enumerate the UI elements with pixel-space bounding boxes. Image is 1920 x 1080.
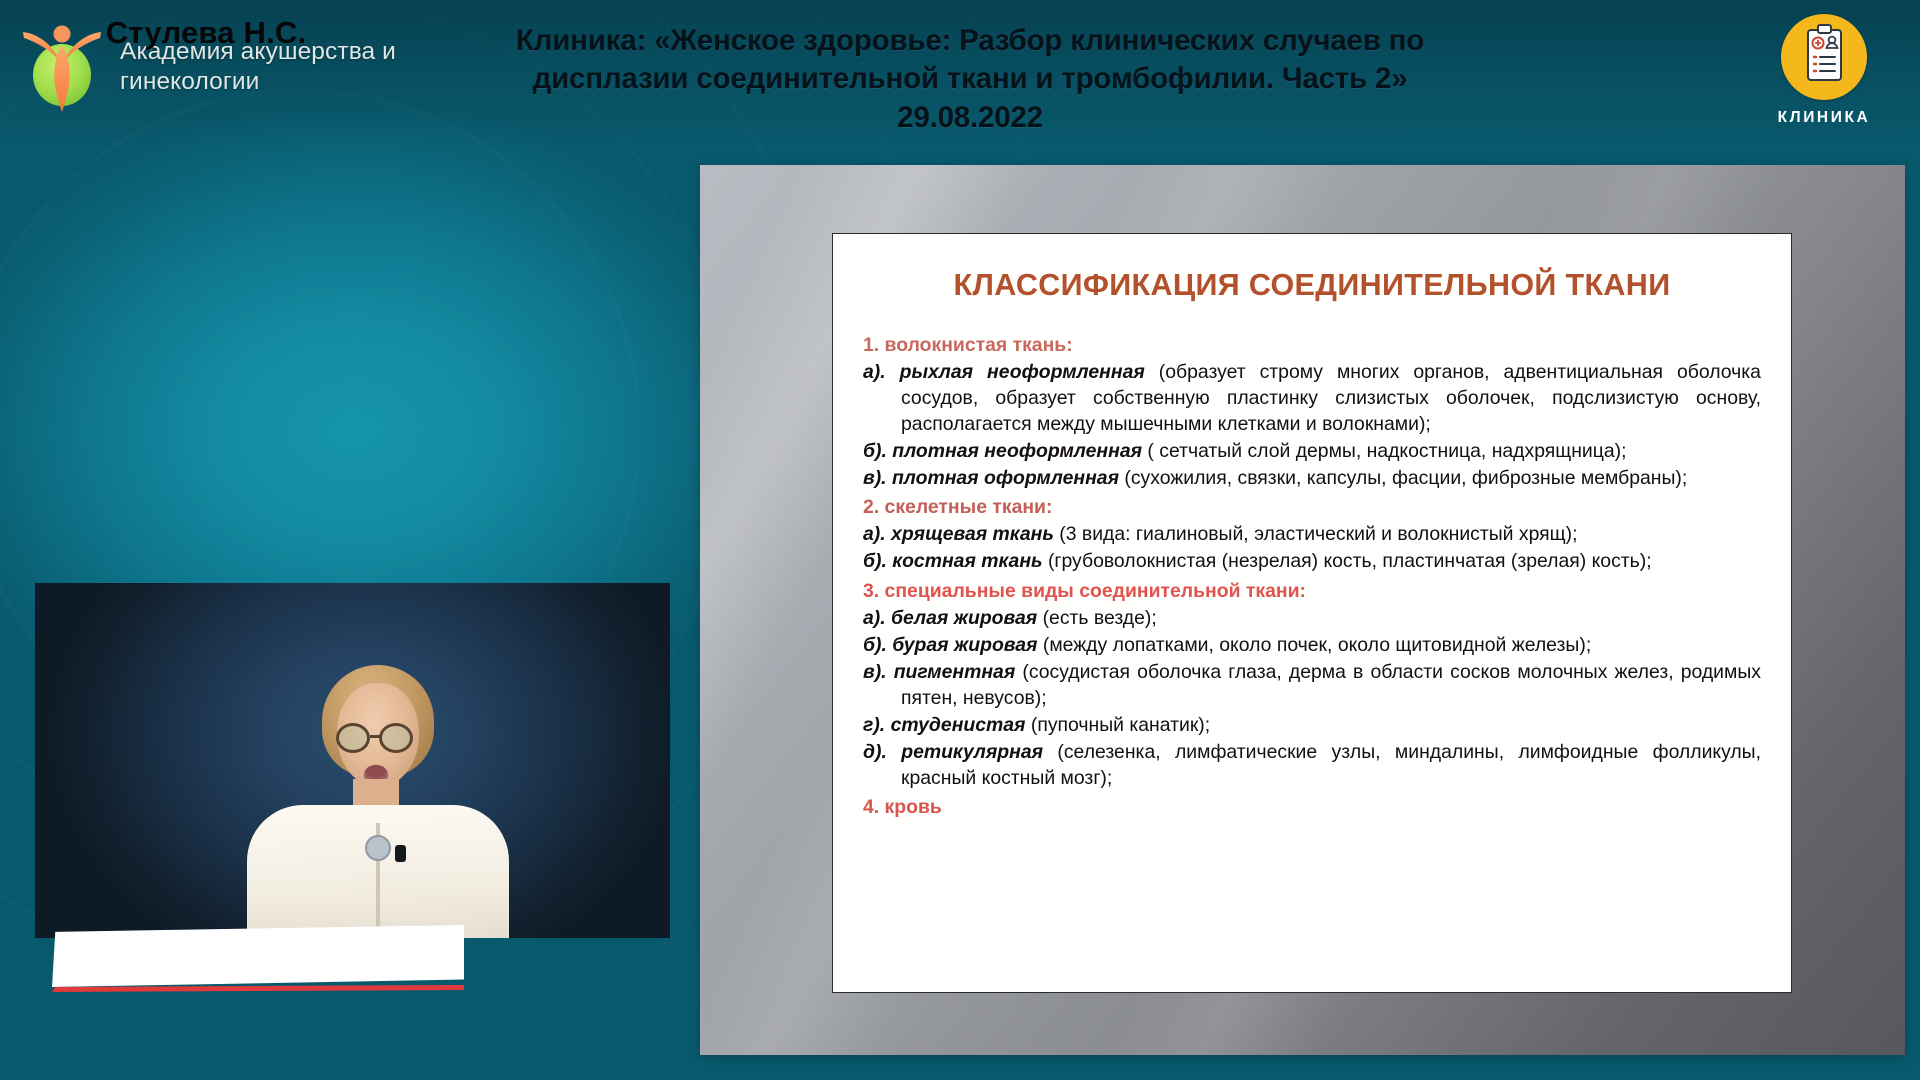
slide-item-detail: (сосудистая оболочка глаза, дерма в обла… bbox=[901, 661, 1761, 709]
slide-section-heading: 2. скелетные ткани: bbox=[863, 495, 1761, 521]
slide-frame: КЛАССИФИКАЦИЯ СОЕДИНИТЕЛЬНОЙ ТКАНИ 1. во… bbox=[700, 165, 1905, 1055]
slide-list-item: б). бурая жировая (между лопатками, окол… bbox=[863, 633, 1761, 659]
slide-list-item: д). ретикулярная (селезенка, лимфатическ… bbox=[863, 740, 1761, 792]
slide-list-item: в). плотная оформленная (сухожилия, связ… bbox=[863, 466, 1761, 492]
slide-item-detail: (сухожилия, связки, капсулы, фасции, фиб… bbox=[1124, 467, 1687, 489]
slide-item-term: рыхлая неоформленная bbox=[900, 361, 1159, 383]
slide-item-term: костная ткань bbox=[892, 550, 1048, 572]
slide-item-detail: (есть везде); bbox=[1043, 607, 1157, 629]
slide-item-term: студенистая bbox=[891, 714, 1031, 736]
slide-item-detail: (пупочный канатик); bbox=[1031, 714, 1210, 736]
slide-item-marker: в). bbox=[863, 467, 892, 489]
slide-item-term: белая жировая bbox=[891, 607, 1043, 629]
slide-item-term: плотная оформленная bbox=[892, 467, 1124, 489]
lapel-microphone-icon bbox=[395, 845, 406, 862]
slide-title: КЛАССИФИКАЦИЯ СОЕДИНИТЕЛЬНОЙ ТКАНИ bbox=[863, 268, 1761, 303]
slide-item-marker: д). bbox=[863, 741, 901, 763]
slide-section-heading: 4. кровь bbox=[863, 795, 1761, 821]
speaker-nameplate bbox=[52, 925, 464, 987]
slide-item-marker: а). bbox=[863, 607, 891, 629]
slide-list-item: б). костная ткань (грубоволокнистая (нез… bbox=[863, 549, 1761, 575]
speaker-name-label: Стулева Н.С. bbox=[0, 2, 412, 64]
slide-section-heading: 1. волокнистая ткань: bbox=[863, 333, 1761, 359]
slide-item-detail: (между лопатками, около почек, около щит… bbox=[1043, 634, 1591, 656]
slide-item-term: пигментная bbox=[894, 661, 1023, 683]
slide-item-marker: г). bbox=[863, 714, 891, 736]
speaker-glasses-right bbox=[379, 723, 413, 753]
slide-item-term: плотная неоформленная bbox=[892, 440, 1147, 462]
speaker-glasses-bridge bbox=[370, 735, 381, 738]
slide-item-marker: б). bbox=[863, 440, 892, 462]
slide-item-marker: а). bbox=[863, 361, 900, 383]
page-title: Клиника: «Женское здоровье: Разбор клини… bbox=[470, 22, 1470, 137]
speaker-glasses-left bbox=[336, 723, 370, 753]
slide-list-item: а). хрящевая ткань (3 вида: гиалиновый, … bbox=[863, 522, 1761, 548]
clipboard-medical-icon bbox=[1781, 14, 1867, 100]
slide-item-marker: б). bbox=[863, 634, 892, 656]
slide-section-heading: 3. специальные виды соединительной ткани… bbox=[863, 579, 1761, 605]
slide-item-term: хрящевая ткань bbox=[891, 523, 1059, 545]
slide-item-detail: (грубоволокнистая (незрелая) кость, плас… bbox=[1048, 550, 1652, 572]
slide-item-detail: (3 вида: гиалиновый, эластический и воло… bbox=[1059, 523, 1577, 545]
slide-body-list: 1. волокнистая ткань:а). рыхлая неоформл… bbox=[863, 333, 1761, 821]
slide-list-item: а). белая жировая (есть везде); bbox=[863, 606, 1761, 632]
slide-list-item: в). пигментная (сосудистая оболочка глаз… bbox=[863, 660, 1761, 712]
slide-item-term: ретикулярная bbox=[901, 741, 1057, 763]
slide-item-term: бурая жировая bbox=[892, 634, 1043, 656]
slide-item-marker: а). bbox=[863, 523, 891, 545]
speaker-necklace bbox=[365, 835, 391, 861]
slide-item-detail: ( сетчатый слой дермы, надкостница, надх… bbox=[1147, 440, 1626, 462]
slide-list-item: б). плотная неоформленная ( сетчатый сло… bbox=[863, 439, 1761, 465]
slide-list-item: а). рыхлая неоформленная (образует стром… bbox=[863, 360, 1761, 438]
slide-list-item: г). студенистая (пупочный канатик); bbox=[863, 713, 1761, 739]
slide-sheet: КЛАССИФИКАЦИЯ СОЕДИНИТЕЛЬНОЙ ТКАНИ 1. во… bbox=[832, 233, 1792, 993]
clinic-badge: КЛИНИКА bbox=[1754, 14, 1894, 127]
clinic-badge-label: КЛИНИКА bbox=[1754, 109, 1894, 127]
speaker-video[interactable] bbox=[35, 583, 670, 938]
slide-item-marker: б). bbox=[863, 550, 892, 572]
slide-item-marker: в). bbox=[863, 661, 894, 683]
